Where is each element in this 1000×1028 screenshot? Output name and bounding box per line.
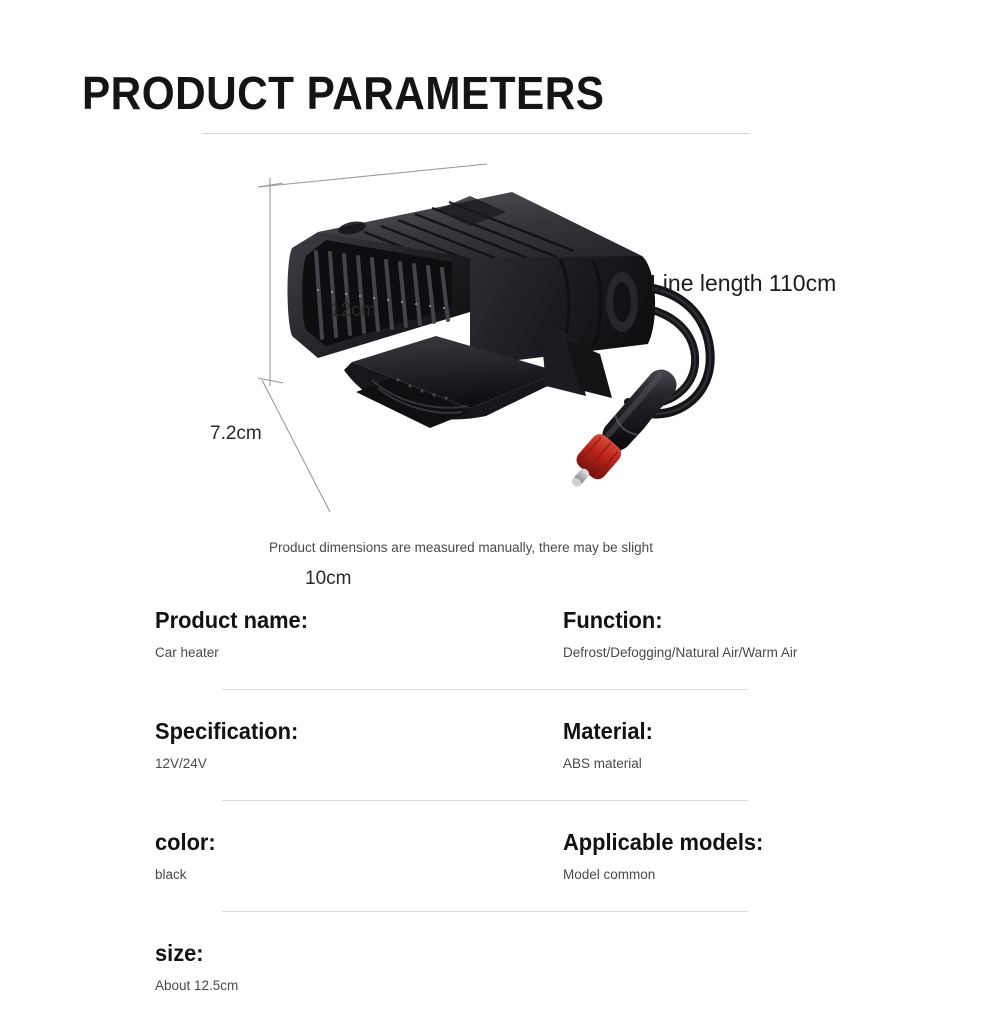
spec-row: Product name: Car heater Function: Defro… — [0, 605, 1000, 716]
spec-cell-material: Material: ABS material — [563, 716, 983, 773]
dimension-depth-label: 10cm — [305, 568, 351, 590]
spec-value: About 12.5cm — [155, 977, 555, 995]
cable-length-label: Line length 110cm — [650, 270, 836, 297]
spec-label: size: — [155, 938, 535, 968]
spec-value: Defrost/Defogging/Natural Air/Warm Air — [563, 644, 983, 662]
spec-value: Car heater — [155, 644, 555, 662]
spec-row: size: About 12.5cm — [0, 938, 1000, 1028]
product-parameters-page: PRODUCT PARAMETERS — [0, 0, 1000, 1000]
spec-label: color: — [155, 827, 535, 857]
title-divider — [202, 133, 750, 134]
spec-value: black — [155, 866, 555, 884]
row-divider — [222, 800, 748, 801]
spec-value: 12V/24V — [155, 755, 555, 773]
product-figure: 12cm 7.2cm 10cm — [0, 140, 1000, 540]
spec-label: Specification: — [155, 716, 535, 746]
dimension-height-label: 7.2cm — [210, 423, 262, 445]
dimension-width-label: 12cm — [330, 300, 376, 322]
spec-label: Function: — [563, 605, 962, 635]
measurement-disclaimer: Product dimensions are measured manually… — [269, 540, 653, 555]
heater-body — [288, 192, 656, 366]
spec-cell-specification: Specification: 12V/24V — [155, 716, 555, 773]
spec-label: Material: — [563, 716, 962, 746]
spec-row: color: black Applicable models: Model co… — [0, 827, 1000, 938]
car-heater-illustration — [0, 140, 1000, 540]
spec-value: Model common — [563, 866, 983, 884]
spec-row: Specification: 12V/24V Material: ABS mat… — [0, 716, 1000, 827]
spec-value: ABS material — [563, 755, 983, 773]
spec-label: Product name: — [155, 605, 535, 635]
row-divider — [222, 911, 748, 912]
spec-label: Applicable models: — [563, 827, 962, 857]
spec-cell-size: size: About 12.5cm — [155, 938, 555, 995]
spec-cell-color: color: black — [155, 827, 555, 884]
row-divider — [222, 689, 748, 690]
page-title: PRODUCT PARAMETERS — [82, 66, 604, 120]
spec-cell-applicable-models: Applicable models: Model common — [563, 827, 983, 884]
spec-cell-product-name: Product name: Car heater — [155, 605, 555, 662]
spec-cell-function: Function: Defrost/Defogging/Natural Air/… — [563, 605, 983, 662]
specifications-table: Product name: Car heater Function: Defro… — [0, 605, 1000, 1028]
